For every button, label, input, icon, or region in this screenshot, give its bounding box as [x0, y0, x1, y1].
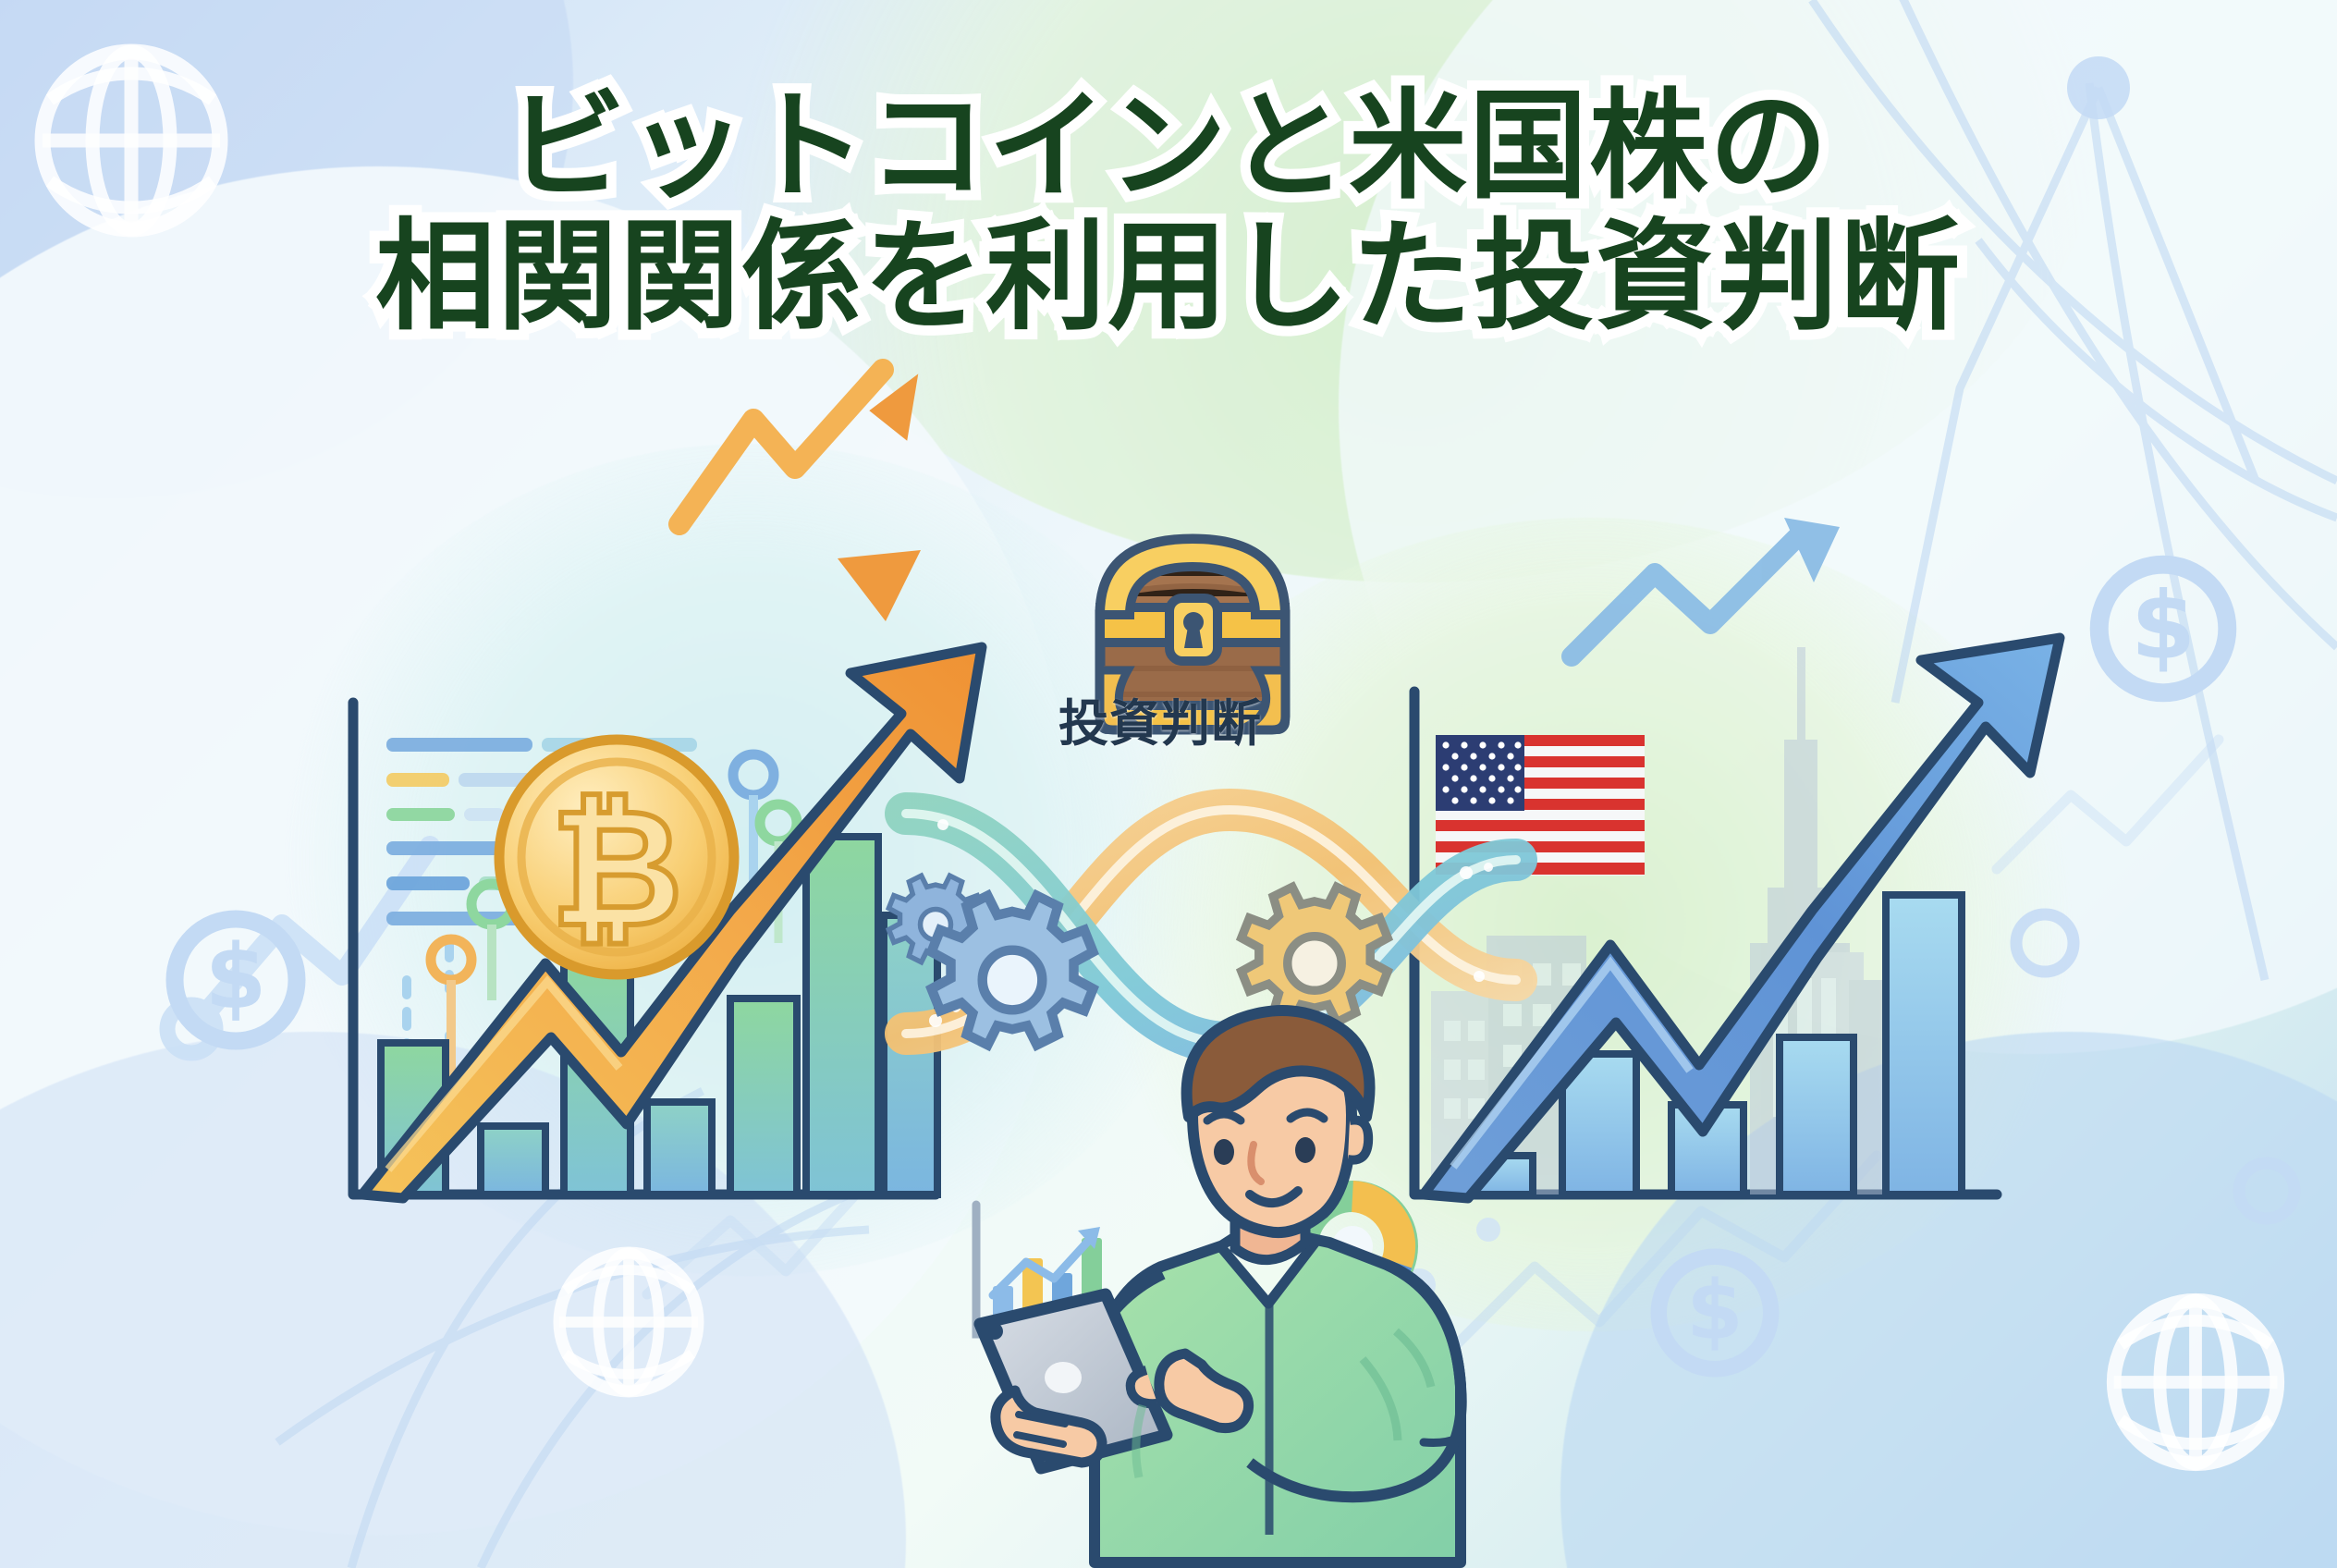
bar — [730, 998, 797, 1194]
bar — [1886, 895, 1962, 1194]
secondary-blue-arrows — [1572, 518, 1840, 656]
svg-text:₿: ₿ — [550, 774, 682, 963]
title-line-1: ビットコインと米国株の — [0, 89, 2337, 205]
bitcoin-chart-panel: ₿ — [353, 370, 982, 1198]
bar — [647, 1102, 712, 1194]
chest-label: 投資判断 — [1022, 682, 1299, 755]
title-line-2: 相関関係を利用した投資判断 — [0, 218, 2337, 335]
small-orange-arrow — [679, 370, 927, 621]
hero-image: $ — [0, 0, 2337, 1568]
bar — [1780, 1037, 1854, 1194]
page-title: ビットコインと米国株の 相関関係を利用した投資判断 — [0, 89, 2337, 335]
bar — [806, 837, 878, 1194]
bar — [481, 1126, 545, 1194]
analyst-illustration — [976, 1011, 1462, 1562]
bitcoin-coin-icon: ₿ — [499, 740, 734, 974]
